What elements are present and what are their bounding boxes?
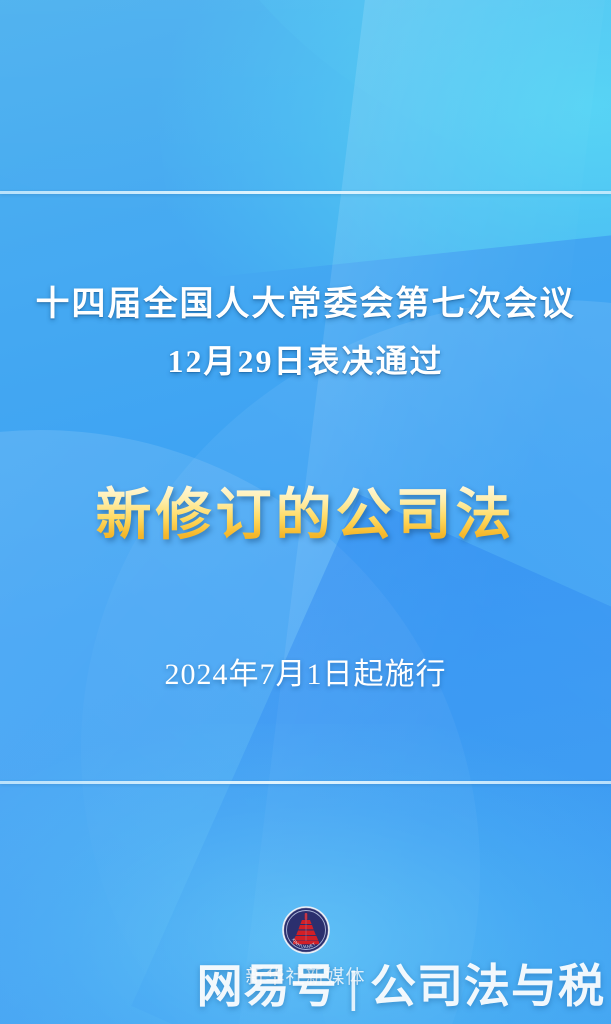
netease-watermark: 网易号 | 公司法与税	[197, 963, 605, 1010]
effective-date-text: 2024年7月1日起施行	[0, 649, 611, 693]
page-title: 新修订的公司法	[0, 470, 611, 551]
poster-canvas: 十四届全国人大常委会第七次会议 12月29日表决通过 新修订的公司法 2024年…	[0, 0, 611, 1024]
headline-line-2: 12月29日表决通过	[0, 344, 611, 380]
xinhua-emblem-icon: XINHUANET	[282, 906, 330, 954]
watermark-brand: 网易号	[197, 963, 338, 1009]
poster-content: 十四届全国人大常委会第七次会议 12月29日表决通过 新修订的公司法 2024年…	[0, 0, 611, 1024]
headline-line-1: 十四届全国人大常委会第七次会议	[0, 286, 611, 324]
watermark-separator: |	[347, 966, 361, 1010]
watermark-account: 公司法与税	[370, 963, 605, 1009]
